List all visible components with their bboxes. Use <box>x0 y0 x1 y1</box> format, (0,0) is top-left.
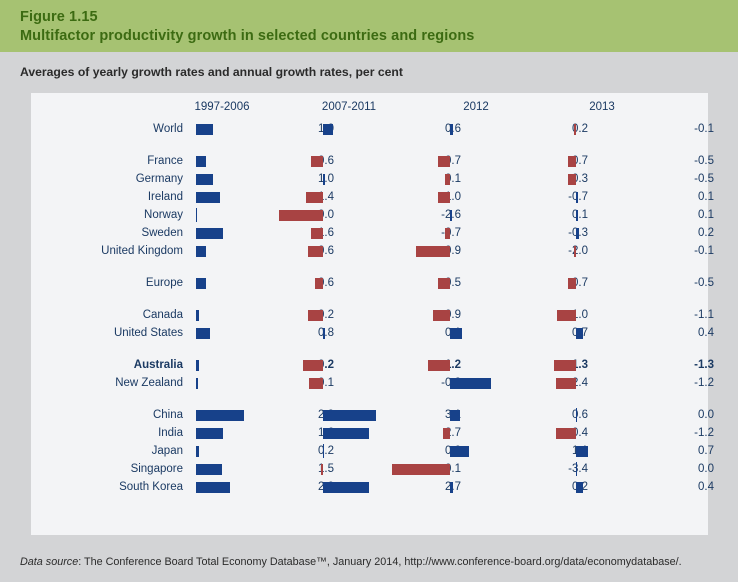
bar <box>323 428 369 439</box>
value-label: 0.0 <box>698 460 714 478</box>
bar <box>574 246 576 257</box>
cell-1997-2006: 0.8 <box>196 324 342 342</box>
value-label: 0.0 <box>698 406 714 424</box>
bar <box>554 360 576 371</box>
row-label-india: India <box>31 424 183 442</box>
table-row: United Kingdom0.6-0.9-2.0-0.1 <box>31 242 708 260</box>
bar <box>308 246 323 257</box>
bar <box>196 310 199 321</box>
bar <box>445 228 450 239</box>
value-label: -0.1 <box>694 120 714 138</box>
bar <box>576 482 583 493</box>
bar <box>196 246 206 257</box>
cell-1997-2006: 1.5 <box>196 460 342 478</box>
bar <box>279 210 323 221</box>
zero-tick <box>323 444 324 458</box>
bar <box>323 174 325 185</box>
bar <box>450 328 462 339</box>
figure-header-band: Figure 1.15 Multifactor productivity gro… <box>0 0 738 52</box>
bar <box>556 428 576 439</box>
row-label-new-zealand: New Zealand <box>31 374 183 392</box>
row-label-china: China <box>31 406 183 424</box>
value-label: 0.2 <box>698 224 714 242</box>
bar <box>196 278 206 289</box>
bar <box>315 278 324 289</box>
cell-2013: 0.0 <box>576 406 722 424</box>
column-header-2012: 2012 <box>416 101 536 113</box>
bar <box>323 328 325 339</box>
table-row: France0.6-0.7-0.7-0.5 <box>31 152 708 170</box>
row-label-canada: Canada <box>31 306 183 324</box>
cell-1997-2006: 0.2 <box>196 442 342 460</box>
cell-2012: 0.1 <box>450 206 596 224</box>
row-label-united-kingdom: United Kingdom <box>31 242 183 260</box>
bar <box>450 124 453 135</box>
table-row: Germany1.00.1-0.3-0.5 <box>31 170 708 188</box>
bar <box>556 378 576 389</box>
row-label-singapore: Singapore <box>31 460 183 478</box>
bar <box>196 482 230 493</box>
row-label-world: World <box>31 120 183 138</box>
value-label: 0.1 <box>698 188 714 206</box>
bar <box>196 378 198 389</box>
column-header-2013: 2013 <box>542 101 662 113</box>
table-row: Canada0.2-0.9-1.0-1.1 <box>31 306 708 324</box>
cell-2007-2011: 0.6 <box>323 120 469 138</box>
cell-2013: -0.5 <box>576 152 722 170</box>
zero-tick <box>196 208 197 222</box>
bar <box>196 174 213 185</box>
cell-2013: -1.3 <box>576 356 722 374</box>
cell-2013: -0.5 <box>576 274 722 292</box>
cell-2007-2011: -0.8 <box>323 374 469 392</box>
bar <box>450 482 453 493</box>
bar <box>576 210 578 221</box>
bar <box>196 328 210 339</box>
cell-1997-2006: 2.0 <box>196 478 342 496</box>
bar <box>576 192 578 203</box>
column-header-2007-2011: 2007-2011 <box>289 101 409 113</box>
cell-2012: 0.7 <box>450 324 596 342</box>
bar <box>308 310 323 321</box>
bar <box>196 360 199 371</box>
cell-2013: -0.5 <box>576 170 722 188</box>
bar <box>323 410 376 421</box>
cell-2013: -1.2 <box>576 374 722 392</box>
table-row: Japan0.20.01.10.7 <box>31 442 708 460</box>
value-label: -1.1 <box>694 306 714 324</box>
table-row: United States0.80.10.70.4 <box>31 324 708 342</box>
row-label-ireland: Ireland <box>31 188 183 206</box>
value-label: -1.2 <box>694 374 714 392</box>
zero-tick <box>576 462 577 476</box>
bar <box>416 246 450 257</box>
cell-2013: -1.2 <box>576 424 722 442</box>
cell-2012: 0.6 <box>450 406 596 424</box>
cell-1997-2006: 1.0 <box>196 170 342 188</box>
figure-number: Figure 1.15 <box>20 0 738 25</box>
cell-2007-2011: 3.1 <box>323 406 469 424</box>
cell-2012: -3.4 <box>450 460 596 478</box>
bar <box>323 482 369 493</box>
bar <box>450 210 452 221</box>
table-row: Australia0.2-1.2-1.3-1.3 <box>31 356 708 374</box>
column-header-1997-2006: 1997-2006 <box>162 101 282 113</box>
value-label: 0.7 <box>698 442 714 460</box>
bar <box>311 156 323 167</box>
bar <box>428 360 450 371</box>
table-row: Ireland1.4-1.0-0.70.1 <box>31 188 708 206</box>
cell-2013: -0.1 <box>576 120 722 138</box>
bar <box>568 174 577 185</box>
cell-2013: -0.1 <box>576 242 722 260</box>
bar <box>443 428 450 439</box>
value-label: 0.1 <box>698 206 714 224</box>
data-source-text: : The Conference Board Total Economy Dat… <box>78 556 681 568</box>
bar <box>568 156 577 167</box>
data-source-label: Data source <box>20 556 78 568</box>
table-row: South Korea2.02.70.20.4 <box>31 478 708 496</box>
bar <box>568 278 577 289</box>
figure-title: Multifactor productivity growth in selec… <box>20 25 738 44</box>
bar <box>311 228 323 239</box>
bar <box>323 124 333 135</box>
bar <box>438 278 450 289</box>
bar <box>450 378 491 389</box>
table-row: Europe0.6-0.5-0.7-0.5 <box>31 274 708 292</box>
bar <box>445 174 450 185</box>
bar <box>438 192 450 203</box>
bar <box>433 310 450 321</box>
bar <box>196 124 213 135</box>
value-label: 0.4 <box>698 478 714 496</box>
value-label: 0.4 <box>698 324 714 342</box>
bar <box>196 428 223 439</box>
zero-tick <box>576 408 577 422</box>
bar <box>450 446 469 457</box>
bar <box>196 156 206 167</box>
table-row: World1.00.60.2-0.1 <box>31 120 708 138</box>
row-label-south-korea: South Korea <box>31 478 183 496</box>
cell-1997-2006: 2.8 <box>196 406 342 424</box>
figure-subtitle: Averages of yearly growth rates and annu… <box>20 65 403 79</box>
cell-2013: 0.1 <box>576 206 722 224</box>
cell-2007-2011: 0.1 <box>323 324 469 342</box>
bar <box>576 328 583 339</box>
row-label-france: France <box>31 152 183 170</box>
row-label-germany: Germany <box>31 170 183 188</box>
row-label-japan: Japan <box>31 442 183 460</box>
bar <box>196 192 220 203</box>
chart-panel: 1997-20062007-201120122013World1.00.60.2… <box>31 93 708 535</box>
bar <box>557 310 576 321</box>
cell-2012: -0.3 <box>450 224 596 242</box>
table-row: Singapore1.5-0.1-3.40.0 <box>31 460 708 478</box>
bar <box>309 378 323 389</box>
value-label: -1.3 <box>694 356 714 374</box>
value-label: -0.5 <box>694 274 714 292</box>
bar <box>576 446 588 457</box>
cell-2013: 0.4 <box>576 478 722 496</box>
cell-1997-2006: 1.0 <box>196 120 342 138</box>
value-label: -0.1 <box>694 242 714 260</box>
value-label: -0.5 <box>694 170 714 188</box>
cell-2013: 0.7 <box>576 442 722 460</box>
bar <box>196 228 223 239</box>
bar <box>303 360 323 371</box>
cell-2013: 0.0 <box>576 460 722 478</box>
table-row: India1.62.7-0.4-1.2 <box>31 424 708 442</box>
bar <box>576 228 579 239</box>
cell-2007-2011: 0.0 <box>323 442 469 460</box>
bar <box>438 156 450 167</box>
bar <box>321 464 323 475</box>
cell-2012: 0.2 <box>450 478 596 496</box>
value-label: -0.5 <box>694 152 714 170</box>
cell-2013: -1.1 <box>576 306 722 324</box>
cell-2013: 0.1 <box>576 188 722 206</box>
row-label-europe: Europe <box>31 274 183 292</box>
cell-2012: -0.7 <box>450 188 596 206</box>
cell-2007-2011: 2.7 <box>323 478 469 496</box>
row-label-united-states: United States <box>31 324 183 342</box>
bar <box>196 446 199 457</box>
row-label-sweden: Sweden <box>31 224 183 242</box>
cell-2013: 0.4 <box>576 324 722 342</box>
bar <box>392 464 450 475</box>
table-row: Norway0.0-2.60.10.1 <box>31 206 708 224</box>
cell-2007-2011: -2.6 <box>323 206 469 224</box>
cell-1997-2006: 1.6 <box>196 424 342 442</box>
table-row: Sweden1.6-0.7-0.30.2 <box>31 224 708 242</box>
table-row: New Zealand0.1-0.82.4-1.2 <box>31 374 708 392</box>
bar <box>306 192 323 203</box>
value-label: -1.2 <box>694 424 714 442</box>
table-row: China2.83.10.60.0 <box>31 406 708 424</box>
bar <box>450 410 460 421</box>
bar <box>574 124 576 135</box>
bar <box>196 464 222 475</box>
cell-2012: 1.1 <box>450 442 596 460</box>
data-source-footnote: Data source: The Conference Board Total … <box>20 556 682 568</box>
row-label-norway: Norway <box>31 206 183 224</box>
row-label-australia: Australia <box>31 356 183 374</box>
cell-2013: 0.2 <box>576 224 722 242</box>
bar <box>196 410 244 421</box>
